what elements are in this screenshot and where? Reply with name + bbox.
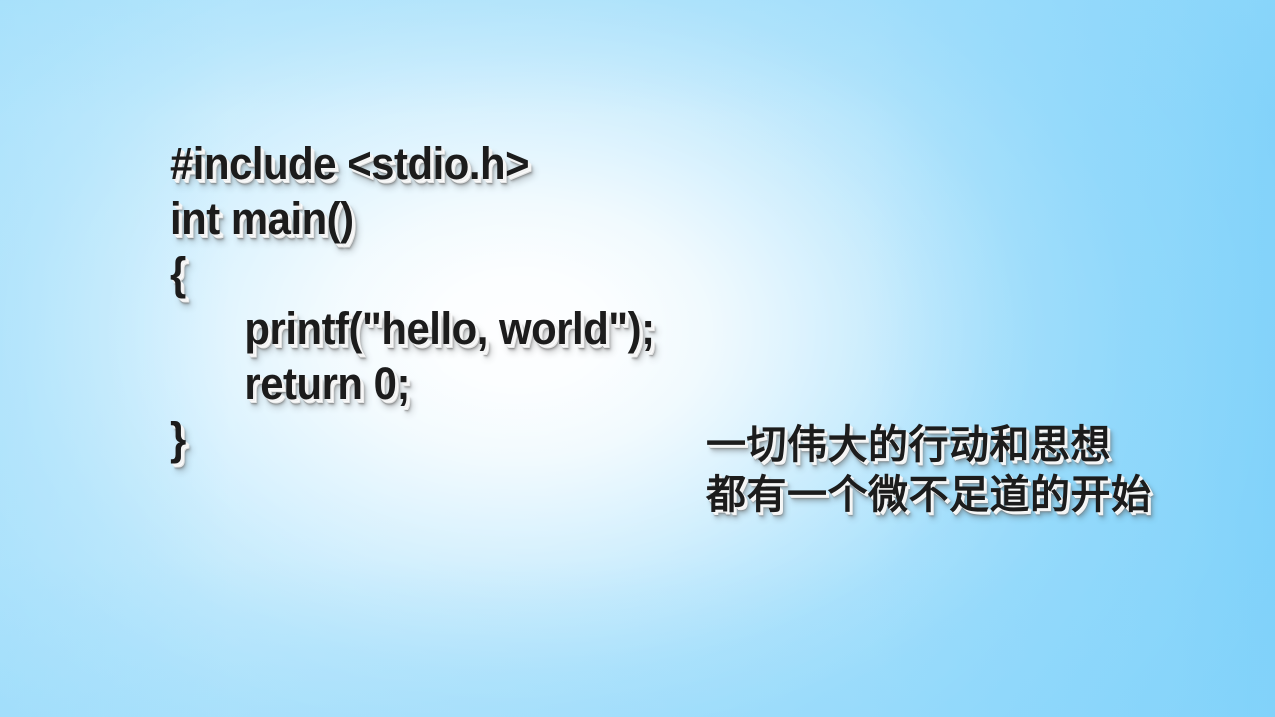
code-line-return: return 0; — [170, 356, 655, 411]
code-snippet: #include <stdio.h> int main() { printf("… — [170, 136, 691, 466]
code-line-open-brace: { — [170, 246, 655, 301]
slide-canvas: #include <stdio.h> int main() { printf("… — [0, 0, 1275, 717]
quote-line-2: 都有一个微不足道的开始 — [706, 470, 1152, 520]
quote-line-1: 一切伟大的行动和思想 — [706, 420, 1152, 470]
code-line-main: int main() — [170, 191, 655, 246]
code-line-include: #include <stdio.h> — [170, 136, 655, 191]
code-line-printf: printf("hello, world"); — [170, 301, 655, 356]
quote-text: 一切伟大的行动和思想 都有一个微不足道的开始 — [706, 420, 1152, 520]
code-line-close-brace: } — [170, 411, 655, 466]
